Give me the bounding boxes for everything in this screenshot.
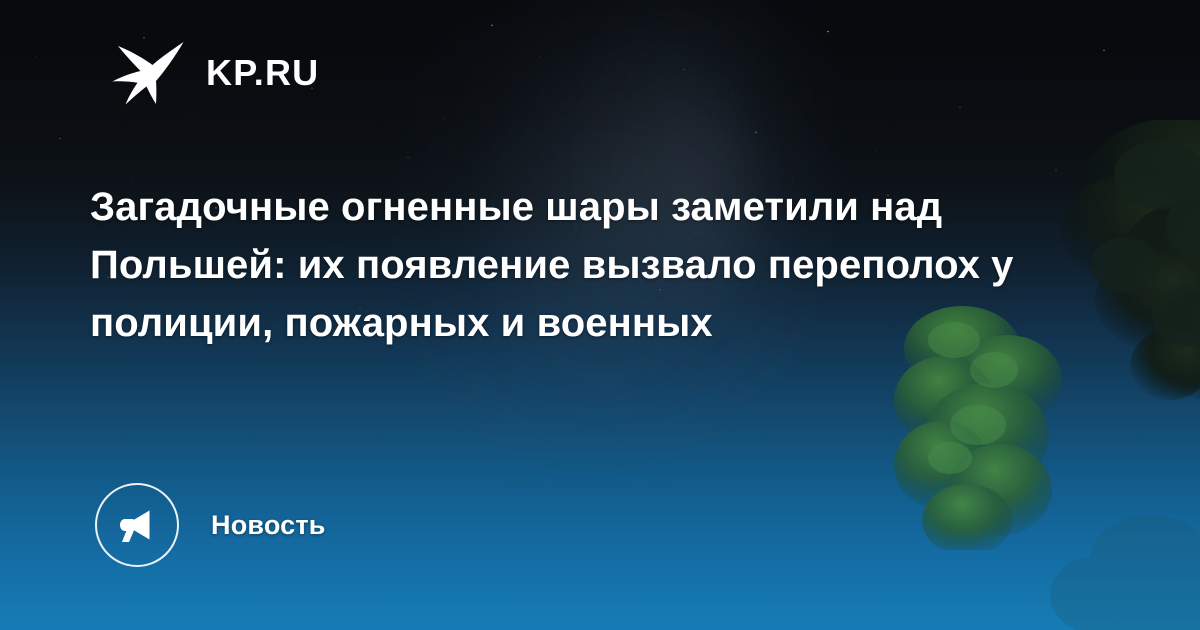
brand-name: KP.RU xyxy=(206,55,319,91)
status-badge-label: Новость xyxy=(211,512,326,539)
status-badge[interactable]: Новость xyxy=(95,483,326,567)
megaphone-icon xyxy=(115,503,159,547)
brand-logo[interactable]: KP.RU xyxy=(112,40,319,106)
badge-icon-circle xyxy=(95,483,179,567)
social-share-card: KP.RU Загадочные огненные шары заметили … xyxy=(0,0,1200,630)
swallow-bird-icon xyxy=(112,40,184,106)
page-title: Загадочные огненные шары заметили над По… xyxy=(90,178,1070,352)
